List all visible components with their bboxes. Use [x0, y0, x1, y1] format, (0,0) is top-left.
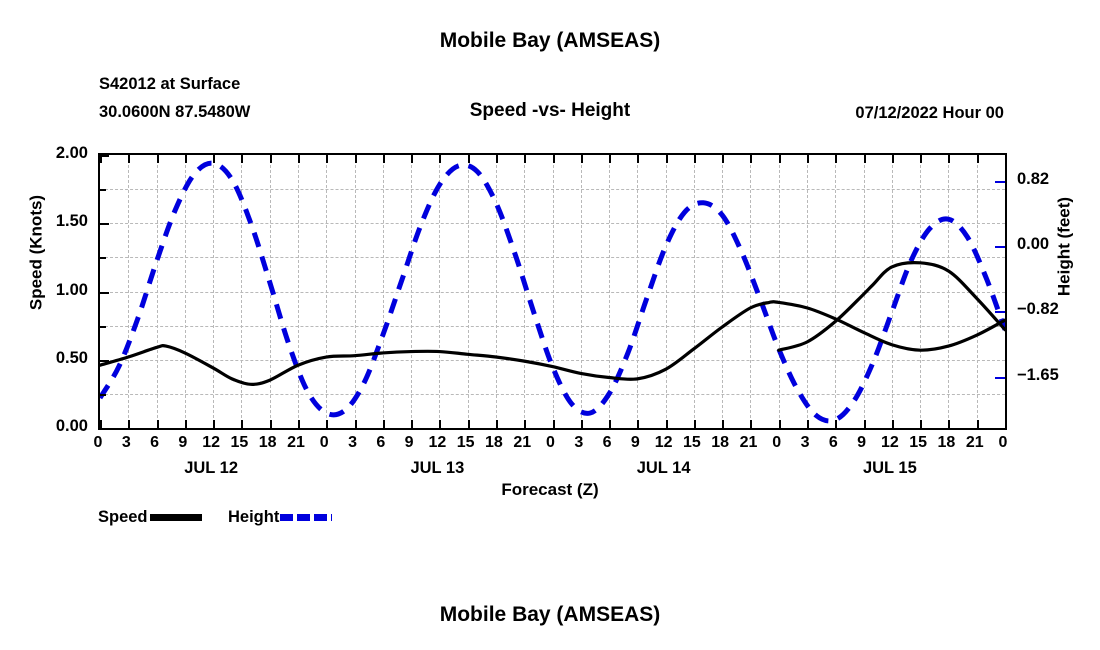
x-tick-bottom [411, 420, 413, 428]
x-tick-top [750, 155, 752, 163]
x-axis-label: Forecast (Z) [0, 481, 1100, 498]
x-tick-bottom [524, 420, 526, 428]
x-tick-label: 6 [591, 434, 623, 452]
x-tick-top [977, 155, 979, 163]
y-tick-right [995, 377, 1005, 379]
x-tick-bottom [355, 420, 357, 428]
x-tick-bottom [977, 420, 979, 428]
x-tick-top [892, 155, 894, 163]
x-tick-bottom [666, 420, 668, 428]
x-tick-bottom [157, 420, 159, 428]
x-tick-top [157, 155, 159, 163]
x-day-label: JUL 13 [387, 459, 487, 478]
x-tick-bottom [270, 420, 272, 428]
x-tick-top [864, 155, 866, 163]
x-tick-top [807, 155, 809, 163]
x-tick-bottom [920, 420, 922, 428]
x-tick-bottom [609, 420, 611, 428]
x-tick-bottom [948, 420, 950, 428]
x-tick-label: 21 [506, 434, 538, 452]
x-tick-label: 0 [535, 434, 567, 452]
x-tick-bottom [750, 420, 752, 428]
x-tick-label: 18 [930, 434, 962, 452]
x-tick-top [835, 155, 837, 163]
x-tick-label: 15 [223, 434, 255, 452]
x-tick-top [298, 155, 300, 163]
x-day-label: JUL 15 [840, 459, 940, 478]
x-tick-top [779, 155, 781, 163]
x-tick-bottom [326, 420, 328, 428]
x-tick-label: 21 [280, 434, 312, 452]
x-tick-bottom [100, 420, 102, 428]
x-tick-label: 15 [902, 434, 934, 452]
legend-label-speed: Speed [98, 508, 148, 527]
x-tick-label: 0 [82, 434, 114, 452]
x-tick-label: 0 [308, 434, 340, 452]
x-tick-label: 15 [450, 434, 482, 452]
x-tick-top [637, 155, 639, 163]
model-run-label: 07/12/2022 Hour 00 [855, 105, 1004, 122]
x-tick-top [722, 155, 724, 163]
x-tick-label: 6 [365, 434, 397, 452]
x-tick-bottom [1005, 420, 1007, 428]
plot-area [98, 153, 1007, 430]
x-tick-top [383, 155, 385, 163]
y-axis-label-left: Speed (Knots) [28, 173, 45, 333]
x-tick-top [241, 155, 243, 163]
x-tick-bottom [581, 420, 583, 428]
y-tick-label-left: 2.00 [34, 144, 88, 163]
x-tick-bottom [864, 420, 866, 428]
x-tick-label: 9 [393, 434, 425, 452]
x-day-label: JUL 14 [614, 459, 714, 478]
x-tick-label: 3 [110, 434, 142, 452]
x-tick-bottom [439, 420, 441, 428]
legend-item-speed: Speed [98, 508, 202, 526]
x-tick-top [185, 155, 187, 163]
y-tick-left [100, 428, 109, 430]
x-tick-label: 18 [704, 434, 736, 452]
legend-swatch-speed-icon [150, 514, 202, 521]
y-tick-left [100, 223, 109, 225]
y-tick-label-left: 1.50 [34, 212, 88, 231]
x-tick-label: 6 [139, 434, 171, 452]
x-tick-bottom [496, 420, 498, 428]
x-tick-label: 21 [732, 434, 764, 452]
legend-label-height: Height [228, 508, 279, 527]
x-tick-label: 12 [874, 434, 906, 452]
x-tick-top [581, 155, 583, 163]
x-tick-top [694, 155, 696, 163]
y-tick-label-right: 0.00 [1017, 235, 1077, 254]
series-lines [100, 155, 1005, 428]
x-tick-top [553, 155, 555, 163]
x-tick-label: 12 [648, 434, 680, 452]
x-tick-top [1005, 155, 1007, 163]
x-tick-top [355, 155, 357, 163]
x-tick-top [270, 155, 272, 163]
y-tick-label-right: 0.82 [1017, 170, 1077, 189]
x-tick-label: 18 [252, 434, 284, 452]
x-tick-bottom [185, 420, 187, 428]
x-tick-top [213, 155, 215, 163]
y-tick-right [995, 181, 1005, 183]
x-tick-label: 6 [817, 434, 849, 452]
y-tick-left-minor [100, 257, 106, 259]
x-tick-bottom [298, 420, 300, 428]
plot-inner [100, 155, 1005, 428]
y-tick-label-right: −0.82 [1017, 300, 1077, 319]
x-tick-bottom [892, 420, 894, 428]
x-tick-bottom [807, 420, 809, 428]
x-tick-bottom [241, 420, 243, 428]
station-label: S42012 at Surface [99, 76, 240, 93]
x-tick-label: 15 [676, 434, 708, 452]
x-tick-bottom [694, 420, 696, 428]
x-tick-label: 21 [959, 434, 991, 452]
x-tick-top [496, 155, 498, 163]
x-tick-top [524, 155, 526, 163]
x-tick-top [411, 155, 413, 163]
series-line-height [100, 163, 1005, 421]
chart-title-top: Mobile Bay (AMSEAS) [0, 30, 1100, 51]
x-day-label: JUL 12 [161, 459, 261, 478]
y-tick-left-minor [100, 326, 106, 328]
y-tick-left [100, 292, 109, 294]
x-tick-label: 0 [987, 434, 1019, 452]
x-tick-label: 3 [337, 434, 369, 452]
x-tick-top [439, 155, 441, 163]
x-tick-label: 9 [846, 434, 878, 452]
y-tick-left-minor [100, 189, 106, 191]
x-tick-bottom [383, 420, 385, 428]
x-tick-bottom [779, 420, 781, 428]
x-tick-label: 3 [563, 434, 595, 452]
x-tick-bottom [835, 420, 837, 428]
x-tick-top [666, 155, 668, 163]
chart-page: Mobile Bay (AMSEAS) S42012 at Surface 30… [0, 0, 1100, 650]
x-tick-bottom [553, 420, 555, 428]
y-tick-label-right: −1.65 [1017, 366, 1077, 385]
y-tick-left [100, 155, 109, 157]
x-tick-top [468, 155, 470, 163]
x-tick-label: 3 [789, 434, 821, 452]
x-tick-label: 12 [195, 434, 227, 452]
legend-item-height: Height [228, 508, 332, 526]
x-tick-top [326, 155, 328, 163]
y-tick-label-left: 0.50 [34, 349, 88, 368]
x-tick-label: 9 [167, 434, 199, 452]
x-tick-label: 18 [478, 434, 510, 452]
x-tick-bottom [128, 420, 130, 428]
x-tick-bottom [722, 420, 724, 428]
y-tick-left [100, 360, 109, 362]
x-tick-bottom [637, 420, 639, 428]
y-tick-label-left: 0.00 [34, 417, 88, 436]
x-tick-label: 12 [421, 434, 453, 452]
legend-swatch-height-icon [280, 514, 332, 521]
x-tick-top [920, 155, 922, 163]
x-tick-bottom [468, 420, 470, 428]
x-tick-label: 9 [619, 434, 651, 452]
y-tick-label-left: 1.00 [34, 281, 88, 300]
y-tick-right [995, 311, 1005, 313]
x-tick-bottom [213, 420, 215, 428]
x-tick-top [128, 155, 130, 163]
chart-title-bottom: Mobile Bay (AMSEAS) [0, 604, 1100, 625]
x-tick-top [948, 155, 950, 163]
x-tick-top [609, 155, 611, 163]
x-tick-label: 0 [761, 434, 793, 452]
y-tick-right [995, 246, 1005, 248]
y-tick-left-minor [100, 394, 106, 396]
